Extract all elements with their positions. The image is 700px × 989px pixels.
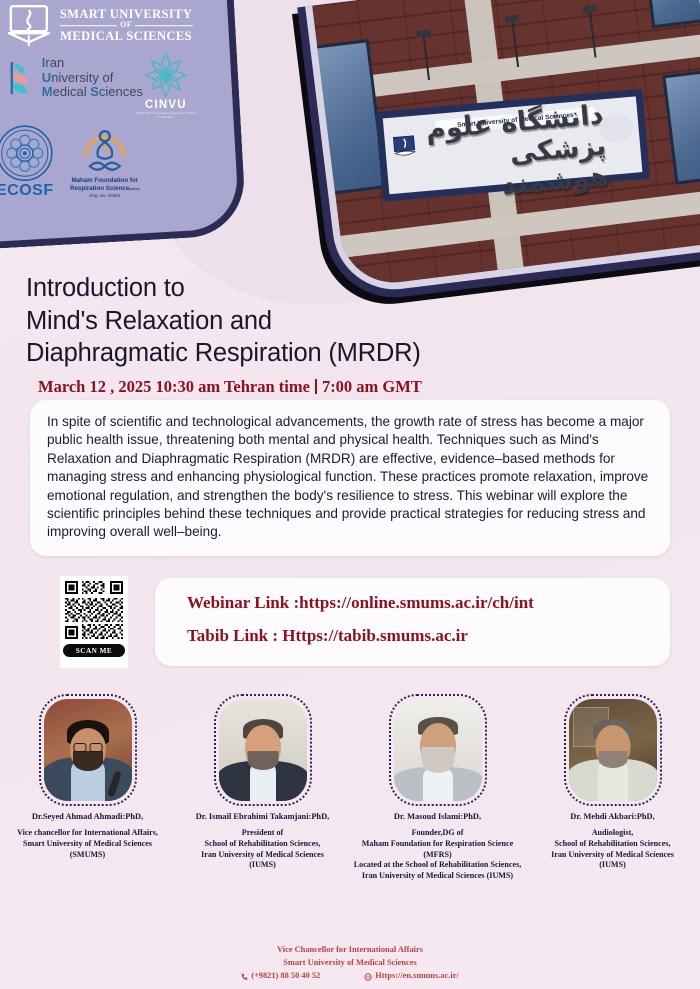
webinar-link[interactable]: Webinar Link :https://online.smums.ac.ir… (187, 593, 670, 613)
speaker-role: Founder,DG of Maham Foundation for Respi… (352, 828, 524, 882)
title-line-3: Diaphragmatic Respiration (MRDR) (26, 337, 486, 370)
speaker-role: Audiologist, School of Rehabilitation Sc… (527, 828, 699, 871)
footer-line-1: Vice Chancellor for International Affair… (0, 944, 700, 957)
iums-l3-bold2: S (90, 84, 99, 99)
su-line-3: MEDICAL SCIENCES (60, 30, 193, 43)
tabib-link[interactable]: Tabib Link : Https://tabib.smums.ac.ir (187, 626, 670, 646)
footer-phone-text: (+9821) 88 50 40 52 (251, 970, 320, 983)
abstract-text: In spite of scientific and technological… (47, 413, 653, 542)
links-card: Webinar Link :https://online.smums.ac.ir… (155, 578, 670, 666)
maham-line-2: Respiration Science (70, 185, 129, 192)
ecosf-logo: ECOSF (0, 124, 64, 200)
footer-website[interactable]: Https://en.smums.ac.ir/ (364, 970, 459, 983)
iums-logo: Iran University of Medical Sciences (6, 56, 143, 100)
footer-phone: (+9821) 88 50 40 52 (241, 970, 320, 983)
smart-university-logo: SMART UNIVERSITY OF MEDICAL SCIENCES (6, 2, 193, 48)
meditating-person-lotus-icon (78, 126, 132, 176)
su-line-2: OF (120, 21, 132, 29)
poster-header: Smart University of Medical Sciences دان… (0, 0, 700, 270)
speakers-row: Dr.Seyed Ahmad Ahmadi:PhD, Vice chancell… (0, 694, 700, 882)
links-row: SCAN ME Webinar Link :https://online.smu… (30, 576, 670, 672)
speaker-name: Dr. Ismail Ebrahimi Takamjani:PhD, (196, 812, 329, 821)
qr-code-image[interactable] (63, 579, 125, 641)
abstract-card: In spite of scientific and technological… (30, 400, 670, 556)
cinvu-star-emblem-icon (136, 52, 196, 98)
speaker-photo-frame (389, 694, 487, 806)
ecosf-name: ECOSF (0, 182, 64, 200)
cinvu-name: CINVU (132, 99, 200, 111)
smart-university-building-photo: Smart University of Medical Sciences دان… (297, 0, 700, 305)
speaker-name: Dr. Mehdi Akbari:PhD, (570, 812, 654, 821)
cinvu-logo: CINVU COMSTECH Inter-Islamic Network on … (132, 52, 200, 120)
iums-l2: niversity of (51, 70, 113, 85)
iums-l3-bold: M (42, 84, 53, 99)
footer-website-text[interactable]: Https://en.smums.ac.ir/ (375, 970, 459, 983)
speaker-name: Dr. Masoud Islami:PhD, (394, 812, 481, 821)
speaker-photo (569, 699, 657, 801)
cinvu-subtitle: COMSTECH Inter-Islamic Network on Virtua… (132, 112, 200, 120)
speaker-photo-frame (214, 694, 312, 806)
event-time-gmt: 7:00 am GMT (322, 377, 422, 396)
iums-l1: ran (45, 55, 64, 70)
maham-logo: Maham Foundation for Respiration Science… (62, 126, 148, 198)
poster-title-block: Introduction to Mind's Relaxation and Di… (26, 272, 486, 397)
iums-l2-bold: U (42, 70, 51, 85)
maham-sup: (MFRS) (129, 187, 140, 191)
speaker-photo (394, 699, 482, 801)
speaker-card: Dr.Seyed Ahmad Ahmadi:PhD, Vice chancell… (0, 694, 175, 882)
title-line-2: Mind's Relaxation and (26, 305, 486, 338)
event-date-tehran: March 12 , 2025 10:30 am Tehran time (38, 377, 310, 396)
speaker-photo (219, 699, 307, 801)
poster-footer: Vice Chancellor for International Affair… (0, 944, 700, 983)
speaker-card: Dr. Masoud Islami:PhD, Founder,DG of Mah… (350, 694, 525, 882)
speaker-card: Dr. Mehdi Akbari:PhD, Audiologist, Schoo… (525, 694, 700, 882)
footer-line-2: Smart University of Medical Sciences (0, 957, 700, 970)
speaker-card: Dr. Ismail Ebrahimi Takamjani:PhD, Presi… (175, 694, 350, 882)
ecosf-circular-emblem-icon (0, 124, 56, 182)
sign-persian-text: دانشگاه علوم پزشکی هوشمند (409, 123, 608, 184)
speaker-role: President of School of Rehabilitation Sc… (177, 828, 349, 871)
book-caduceus-icon (6, 2, 52, 48)
su-line-1: SMART UNIVERSITY (60, 8, 193, 21)
speaker-name: Dr.Seyed Ahmad Ahmadi:PhD, (32, 812, 143, 821)
iums-emblem-icon (6, 59, 36, 97)
qr-code-block[interactable]: SCAN ME (60, 576, 128, 668)
maham-reg-number: Reg. No. 54955 (62, 193, 148, 198)
title-line-1: Introduction to (26, 272, 486, 305)
scan-me-label: SCAN ME (63, 644, 125, 657)
phone-icon (241, 973, 248, 980)
speaker-photo-frame (564, 694, 662, 806)
globe-icon (364, 973, 372, 981)
iums-l3: edical (53, 84, 91, 99)
logos-panel: SMART UNIVERSITY OF MEDICAL SCIENCES Ira… (0, 0, 247, 249)
speaker-photo-frame (39, 694, 137, 806)
speaker-photo (44, 699, 132, 801)
speaker-role: Vice chancellor for International Affair… (2, 828, 174, 860)
webinar-poster: Smart University of Medical Sciences دان… (0, 0, 700, 989)
event-datetime: March 12 , 2025 10:30 am Tehran time7:00… (38, 377, 486, 397)
date-divider (315, 379, 317, 394)
maham-line-1: Maham Foundation for (71, 177, 138, 184)
